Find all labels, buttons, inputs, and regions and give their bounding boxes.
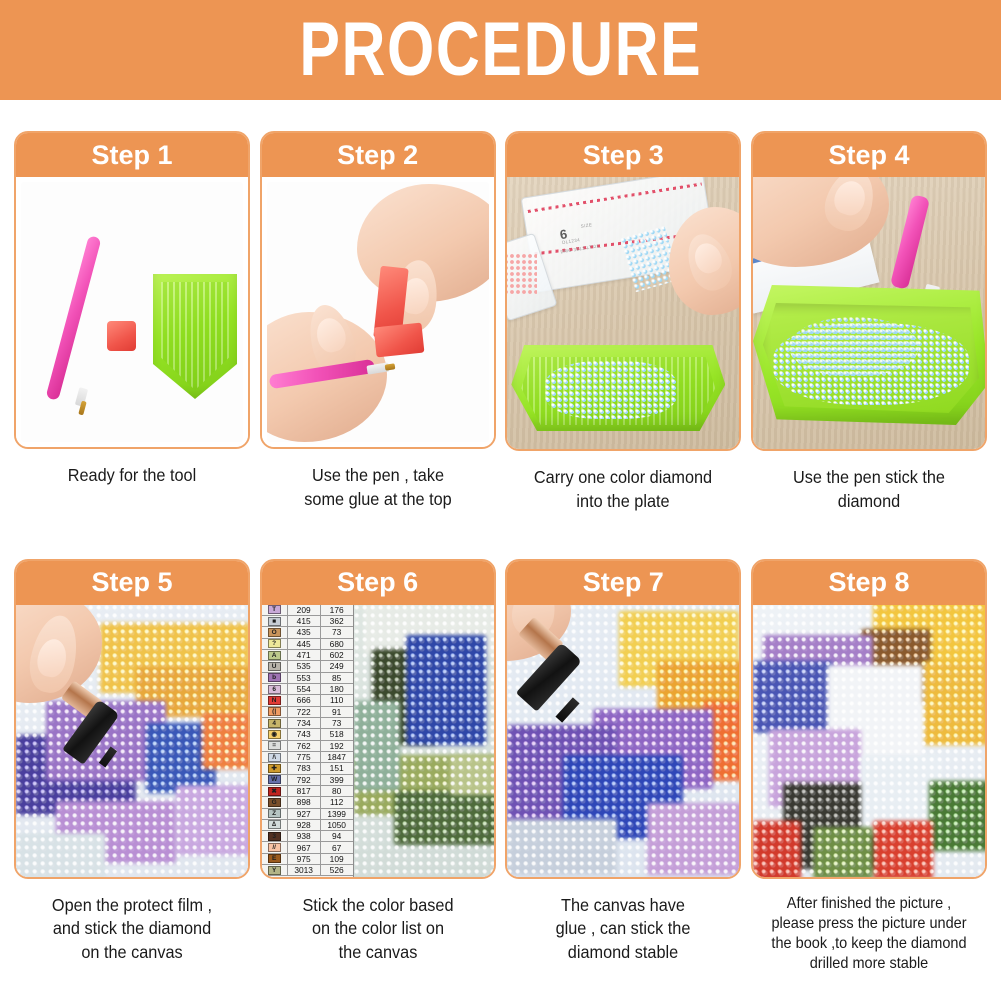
step-card-8[interactable]: Step 8 (751, 559, 987, 879)
color-code-cell: 553 (288, 673, 321, 683)
color-code-cell: 938 (288, 831, 321, 841)
color-code-cell: 3013 (288, 865, 321, 875)
step-header-label-6: Step 6 (337, 569, 418, 596)
step-photo-1 (16, 177, 248, 447)
step-card-3[interactable]: Step 3 6 SIZE DL1234 DMC 3013 LT.01 (505, 131, 741, 451)
step-photo-8 (753, 605, 985, 877)
step-caption-2: Use the pen , take some glue at the top (268, 464, 487, 512)
color-list-row: A471602 (262, 650, 353, 661)
color-symbol-cell: ✖ (262, 786, 288, 796)
step-header-label-5: Step 5 (91, 569, 172, 596)
color-list-row: U535249 (262, 661, 353, 672)
color-code-cell: 734 (288, 718, 321, 728)
color-code-cell: 967 (288, 842, 321, 852)
color-count-cell: 91 (321, 707, 353, 717)
color-list-row: G898112 (262, 797, 353, 808)
step-header-7: Step 7 (507, 561, 739, 605)
color-code-cell: 435 (288, 627, 321, 637)
color-list-row: /\7751847 (262, 752, 353, 763)
color-count-cell: 1050 (321, 820, 353, 830)
color-code-cell: 792 (288, 775, 321, 785)
step-cell-8: Step 8 (751, 559, 987, 975)
color-code-cell: 975 (288, 854, 321, 864)
color-symbol-cell: W (262, 775, 288, 785)
color-count-cell: 110 (321, 695, 353, 705)
color-count-cell: 180 (321, 684, 353, 694)
color-symbol-cell: ✚ (262, 763, 288, 773)
steps-grid: Step 1 R (0, 131, 1001, 975)
step-photo-4 (753, 177, 985, 449)
color-code-cell: 554 (288, 684, 321, 694)
color-count-cell: 249 (321, 661, 353, 671)
color-code-cell: 762 (288, 741, 321, 751)
color-list-row: N666110 (262, 695, 353, 706)
step-header-3: Step 3 (507, 133, 739, 177)
color-count-cell: 109 (321, 854, 353, 864)
color-count-cell: 602 (321, 650, 353, 660)
step-cell-7: Step 7 (505, 559, 741, 975)
color-symbol-cell: U (262, 661, 288, 671)
color-list-table: T209176■415362O43573?445680A471602U53524… (262, 605, 354, 877)
step-cell-6: Step 6 (260, 559, 496, 975)
color-list-row: =762192 (262, 741, 353, 752)
diamond-canvas-illustration (354, 605, 494, 877)
color-count-cell: 73 (321, 627, 353, 637)
color-count-cell: 94 (321, 831, 353, 841)
step-caption-1: Ready for the tool (22, 464, 241, 488)
color-list-row: (|72291 (262, 707, 353, 718)
step-header-4: Step 4 (753, 133, 985, 177)
color-symbol-cell: // (262, 842, 288, 852)
step-card-6[interactable]: Step 6 (260, 559, 496, 879)
step-card-7[interactable]: Step 7 (505, 559, 741, 879)
glue-square-illustration (107, 321, 136, 351)
step-card-2[interactable]: Step 2 (260, 131, 496, 449)
color-symbol-cell: ◉ (262, 729, 288, 739)
step-cell-3: Step 3 6 SIZE DL1234 DMC 3013 LT.01 (505, 131, 741, 514)
color-symbol-cell: ? (262, 639, 288, 649)
color-count-cell: 151 (321, 763, 353, 773)
color-symbol-cell: T (262, 605, 288, 615)
color-symbol-cell: (| (262, 707, 288, 717)
color-list-row: Y3013526 (262, 865, 353, 876)
color-list-row: ?445680 (262, 639, 353, 650)
step-header-8: Step 8 (753, 561, 985, 605)
color-symbol-cell: N (262, 695, 288, 705)
color-symbol-cell: O (262, 627, 288, 637)
color-list-row: 393894 (262, 831, 353, 842)
step-cell-5: Step 5 (14, 559, 250, 975)
step-header-1: Step 1 (16, 133, 248, 177)
step-header-6: Step 6 (262, 561, 494, 605)
color-symbol-cell: Z (262, 809, 288, 819)
color-list-row: ◉743518 (262, 729, 353, 740)
step-caption-4: Use the pen stick the diamond (759, 466, 978, 514)
step-caption-7: The canvas have glue , can stick the dia… (514, 894, 733, 965)
color-list-row: b55385 (262, 673, 353, 684)
color-list-row: 473473 (262, 718, 353, 729)
step-card-5[interactable]: Step 5 (14, 559, 250, 879)
color-symbol-cell: b (262, 673, 288, 683)
color-list-row: ∆9281050 (262, 820, 353, 831)
step-header-label-3: Step 3 (583, 142, 664, 169)
color-count-cell: 399 (321, 775, 353, 785)
color-code-cell: 928 (288, 820, 321, 830)
color-count-cell: 80 (321, 786, 353, 796)
color-count-cell: 1399 (321, 809, 353, 819)
color-list-row: ✖81780 (262, 786, 353, 797)
color-list-row: ✚783151 (262, 763, 353, 774)
color-count-cell: 518 (321, 729, 353, 739)
color-count-cell: 1847 (321, 752, 353, 762)
color-list-row: //96767 (262, 842, 353, 853)
color-symbol-cell: 3 (262, 831, 288, 841)
color-count-cell: 73 (321, 718, 353, 728)
color-code-cell: 722 (288, 707, 321, 717)
color-code-cell: 445 (288, 639, 321, 649)
color-count-cell: 680 (321, 639, 353, 649)
bag-code2-label: DMC 3013 LT.01 (560, 243, 599, 254)
color-symbol-cell: G (262, 797, 288, 807)
color-count-cell: 362 (321, 616, 353, 626)
color-symbol-cell: Y (262, 865, 288, 875)
step-photo-7 (507, 605, 739, 877)
color-count-cell: 85 (321, 673, 353, 683)
color-list-row: 6554180 (262, 684, 353, 695)
page-title: PROCEDURE (299, 12, 702, 88)
color-code-cell: 535 (288, 661, 321, 671)
color-list-row: W792399 (262, 775, 353, 786)
step-cell-1: Step 1 R (14, 131, 250, 514)
color-code-cell: 817 (288, 786, 321, 796)
step-caption-6: Stick the color based on the color list … (268, 894, 487, 965)
step-header-label-1: Step 1 (91, 142, 172, 169)
step-photo-6: T209176■415362O43573?445680A471602U53524… (262, 605, 494, 877)
color-list-row: Z9271399 (262, 809, 353, 820)
color-list-row: ■415362 (262, 616, 353, 627)
step-cell-4: Step 4 (751, 131, 987, 514)
step-header-5: Step 5 (16, 561, 248, 605)
color-list-row: O43573 (262, 627, 353, 638)
color-code-cell: 783 (288, 763, 321, 773)
step-caption-5: Open the protect film , and stick the di… (22, 894, 241, 965)
color-code-cell: 209 (288, 605, 321, 615)
step-header-label-7: Step 7 (583, 569, 664, 596)
step-header-label-2: Step 2 (337, 142, 418, 169)
color-count-cell: 112 (321, 797, 353, 807)
step-card-4[interactable]: Step 4 (751, 131, 987, 451)
color-symbol-cell: ■ (262, 616, 288, 626)
color-count-cell: 67 (321, 842, 353, 852)
step-header-label-8: Step 8 (828, 569, 909, 596)
color-symbol-cell: E (262, 854, 288, 864)
steps-row-top: Step 1 R (14, 131, 987, 514)
color-code-cell: 743 (288, 729, 321, 739)
color-list-row: E975109 (262, 854, 353, 865)
color-code-cell: 471 (288, 650, 321, 660)
color-code-cell: 775 (288, 752, 321, 762)
step-header-2: Step 2 (262, 133, 494, 177)
color-code-cell: 898 (288, 797, 321, 807)
color-code-cell: 666 (288, 695, 321, 705)
step-cell-2: Step 2 (260, 131, 496, 514)
step-photo-3: 6 SIZE DL1234 DMC 3013 LT.01 (507, 177, 739, 449)
color-code-cell: 415 (288, 616, 321, 626)
color-symbol-cell: 4 (262, 718, 288, 728)
color-symbol-cell: 6 (262, 684, 288, 694)
color-count-cell: 526 (321, 865, 353, 875)
color-code-cell: 927 (288, 809, 321, 819)
color-symbol-cell: ∆ (262, 820, 288, 830)
step-caption-3: Carry one color diamond into the plate (514, 466, 733, 514)
color-list-row: T209176 (262, 605, 353, 616)
steps-row-bottom: Step 5 (14, 559, 987, 975)
color-count-cell: 176 (321, 605, 353, 615)
page-banner: PROCEDURE (0, 0, 1001, 100)
color-symbol-cell: = (262, 741, 288, 751)
finished-picture-illustration (753, 605, 985, 877)
step-photo-2 (262, 177, 494, 447)
step-photo-5 (16, 605, 248, 877)
step-caption-8: After finished the picture , please pres… (759, 894, 978, 975)
step-card-1[interactable]: Step 1 (14, 131, 250, 449)
color-symbol-cell: /\ (262, 752, 288, 762)
color-count-cell: 192 (321, 741, 353, 751)
step-header-label-4: Step 4 (828, 142, 909, 169)
color-symbol-cell: A (262, 650, 288, 660)
bag-size-label: SIZE (581, 222, 593, 229)
